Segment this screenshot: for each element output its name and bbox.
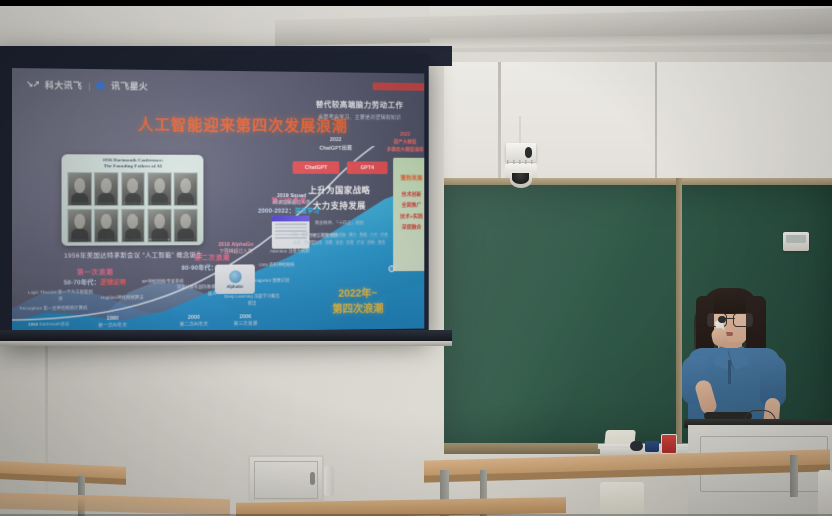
portrait: Ray Solomonoff bbox=[147, 173, 171, 207]
tag: 安全 bbox=[335, 240, 344, 246]
portrait: John McCarthy bbox=[67, 173, 91, 207]
milestone-label: Logic Theorist 第一个人工智能程序 bbox=[26, 289, 95, 303]
projected-slide: ↘↗ 科大讯飞 | 讯飞星火 人工智能迎来第四次发展浪潮 1956 Dartmo… bbox=[12, 68, 424, 334]
portrait: Nathaniel Rochester bbox=[147, 209, 171, 243]
milestone-year: 2000第二次AI冬天 bbox=[167, 314, 221, 330]
portrait: Oliver Selfridge bbox=[121, 209, 145, 243]
right-headline: 替代较高端脑力劳动工作 bbox=[294, 99, 424, 111]
slide-brand-logo: ↘↗ 科大讯飞 | 讯飞星火 bbox=[26, 78, 148, 92]
brand-product-label: 讯飞星火 bbox=[111, 79, 148, 92]
tag: 创新 bbox=[366, 240, 375, 246]
tag: 政策 bbox=[300, 233, 309, 239]
tag: 场景 bbox=[324, 240, 333, 246]
camera-indicator bbox=[525, 147, 532, 158]
milestone-year: 1980第一次AI冬天 bbox=[85, 315, 140, 331]
portrait: Claude Shannon bbox=[121, 173, 145, 207]
alphago-logo-icon: AlphaGo bbox=[215, 264, 255, 294]
milestone-label: Perceptron 第一台神经网络计算机 bbox=[16, 305, 91, 312]
tag: 科技 bbox=[320, 233, 329, 239]
panel-inset bbox=[254, 461, 318, 499]
green-item: 深度融合 bbox=[393, 223, 424, 234]
chatgpt-year-note: 2022 ChatGPT出现 bbox=[293, 136, 379, 154]
wall-seam bbox=[655, 62, 657, 182]
portrait: Marvin Minsky bbox=[94, 173, 118, 207]
glasses-icon bbox=[707, 313, 753, 325]
dartmouth-title-line2: The Founding Fathers of AI bbox=[65, 163, 201, 170]
portrait: Arthur Samuel bbox=[94, 209, 118, 243]
brand-company-label: 科大讯飞 bbox=[45, 78, 82, 91]
tag: 伦理 bbox=[345, 240, 354, 246]
milestone-label: Hopfield神经网络算法 bbox=[87, 295, 157, 302]
desk-object bbox=[645, 441, 659, 452]
camera-lens-icon bbox=[512, 173, 529, 184]
upper-wall-panel bbox=[444, 62, 832, 180]
thermostat-panel[interactable] bbox=[783, 232, 809, 251]
milestone-label: Attention 注意力机制 bbox=[261, 248, 319, 255]
iflytek-mark-icon: ↘↗ bbox=[26, 79, 39, 90]
tag: 算力 bbox=[348, 233, 357, 239]
milestone-year: 2006第三次浪潮 bbox=[219, 313, 272, 329]
portrait: Herbert Simon bbox=[67, 209, 91, 243]
thermostat-screen bbox=[786, 235, 806, 243]
panel-handle[interactable] bbox=[310, 472, 315, 485]
wall-pipe bbox=[324, 466, 334, 496]
green-box-list: 技术创新 全面推广 技术+实践 深度融合 bbox=[393, 190, 424, 234]
microphone-head bbox=[718, 316, 726, 323]
alphago-year: 2016 AlphaGo下围棋超过人类 bbox=[203, 241, 268, 257]
chair bbox=[600, 482, 644, 516]
strategy-line-2: 大力支持发展 bbox=[291, 198, 388, 214]
fourth-wave-name: 第四次浪潮 bbox=[302, 302, 413, 319]
highlight-bar bbox=[373, 82, 424, 90]
right-subline: 会思考会学习、主要是对逻辑和知识 bbox=[294, 113, 424, 122]
fourth-wave-label: 2022年~ 第四次浪潮 bbox=[302, 286, 413, 318]
milestone-label: 1956 Dartmouth会议 bbox=[18, 321, 79, 328]
tag: 应用 bbox=[314, 240, 323, 246]
curve-end-node-icon bbox=[388, 265, 394, 272]
portrait: Trenchard More bbox=[174, 209, 198, 242]
lens-right bbox=[733, 313, 753, 327]
tag: 标准 bbox=[292, 240, 301, 246]
green-box-header: 蓬勃发展 bbox=[393, 173, 424, 182]
green-item: 全面推广 bbox=[393, 201, 424, 212]
policy-tag-cloud: 战略 政策 AI+ 科技 基础设施 算力 数据 人才 开放 标准 生态 应用 场… bbox=[287, 233, 391, 246]
alphago-logo-label: AlphaGo bbox=[227, 284, 244, 289]
milestone-label: Deep Learning 深度学习概念提出 bbox=[223, 293, 282, 307]
camera-cable bbox=[519, 116, 521, 146]
domestic-model-note: 2023 国产大模型 多模态大模型涌现 bbox=[384, 131, 424, 154]
classroom-photo: ↘↗ 科大讯飞 | 讯飞星火 人工智能迎来第四次发展浪潮 1956 Dartmo… bbox=[0, 0, 832, 516]
tag: 开放 bbox=[380, 233, 389, 239]
camera-mount bbox=[507, 160, 535, 164]
green-item: 技术创新 bbox=[393, 190, 424, 201]
portrait: Alan Newell bbox=[174, 173, 198, 206]
tag: 基础设施 bbox=[330, 233, 346, 239]
milestone-label: CNN 卷积神经网络 bbox=[249, 262, 304, 269]
shirt-placket bbox=[728, 360, 731, 384]
brand-divider: | bbox=[88, 80, 90, 90]
fourth-wave-year: 2022年~ bbox=[302, 286, 413, 302]
tag: 数据 bbox=[359, 233, 368, 239]
strategy-line-1: 上升为国家战略 bbox=[291, 183, 388, 199]
desk-object bbox=[630, 441, 643, 451]
tag: 产业 bbox=[356, 240, 365, 246]
tag: 融合 bbox=[377, 240, 386, 246]
spark-dot-icon bbox=[96, 81, 105, 90]
strategy-text: 上升为国家战略 大力支持发展 bbox=[291, 183, 388, 214]
projector-screen-bottom-bar bbox=[0, 330, 452, 341]
tag: 生态 bbox=[303, 240, 312, 246]
tag: 人才 bbox=[369, 233, 378, 239]
green-item: 技术+实践 bbox=[393, 212, 424, 223]
wall-access-panel[interactable] bbox=[248, 455, 324, 501]
founders-portrait-grid: John McCarthy Marvin Minsky Claude Shann… bbox=[65, 173, 201, 243]
policy-note: 两会精神、「十四五」规划 bbox=[291, 219, 388, 227]
tag: 战略 bbox=[289, 233, 298, 239]
dartmouth-photo-card: 1956 Dartmouth Conference: The Founding … bbox=[62, 154, 204, 246]
chip-chatgpt: ChatGPT bbox=[293, 161, 340, 174]
tag: AI+ bbox=[311, 233, 319, 239]
desk-leg bbox=[790, 455, 798, 497]
chair bbox=[818, 470, 832, 516]
image-top-border bbox=[0, 0, 832, 6]
desk-object-red bbox=[661, 434, 677, 454]
alphago-glyph bbox=[229, 270, 241, 283]
chip-gpt4: GPT4 bbox=[347, 161, 388, 174]
projector-screen-rail bbox=[0, 341, 452, 346]
